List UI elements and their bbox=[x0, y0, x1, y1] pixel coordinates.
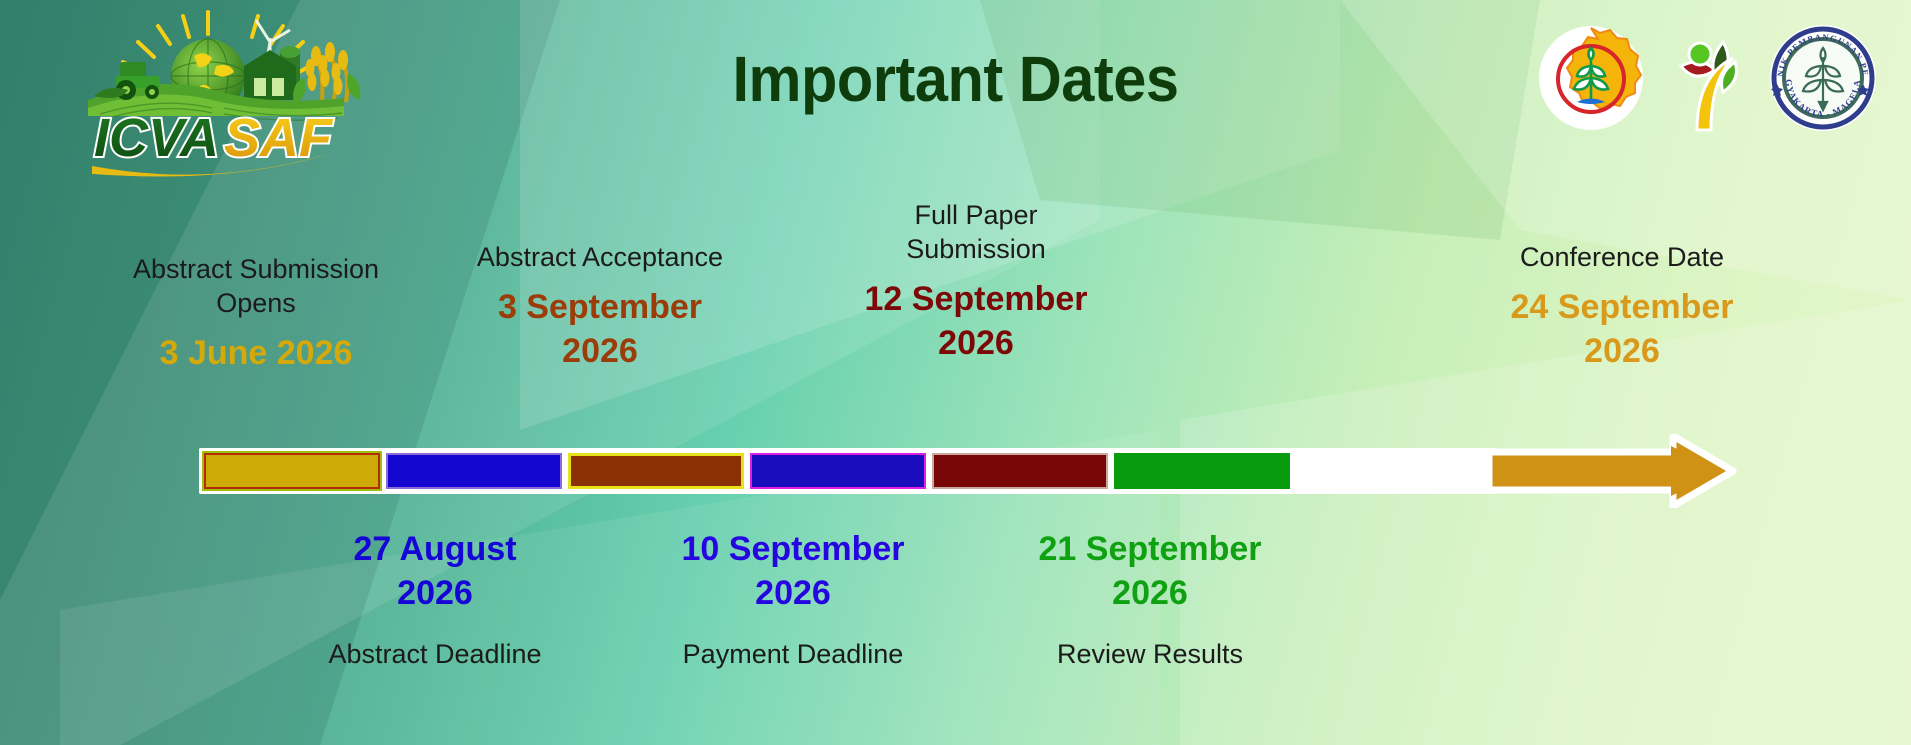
milestone-below-1: 27 August 2026 Abstract Deadline bbox=[290, 528, 580, 671]
milestone-date: 21 September 2026 bbox=[1005, 528, 1295, 615]
timeline-arrow bbox=[199, 448, 1737, 494]
milestone-above-1: Abstract Submission Opens 3 June 2026 bbox=[96, 252, 416, 376]
milestone-label: Full Paper Submission bbox=[826, 198, 1126, 266]
milestone-date: 24 September 2026 bbox=[1462, 286, 1782, 373]
milestone-date: 27 August 2026 bbox=[290, 528, 580, 615]
milestone-above-2: Abstract Acceptance 3 September 2026 bbox=[440, 240, 760, 373]
milestone-label: Abstract Submission Opens bbox=[96, 252, 416, 320]
timeline-segment-5[interactable] bbox=[932, 453, 1108, 489]
milestone-label: Conference Date bbox=[1462, 240, 1782, 274]
arrow-head-icon bbox=[1487, 434, 1737, 508]
important-dates-banner: ICVA SAF Important Dates bbox=[0, 0, 1911, 745]
timeline-segment-6[interactable] bbox=[1114, 453, 1290, 489]
milestone-label: Payment Deadline bbox=[648, 637, 938, 671]
milestone-label: Abstract Acceptance bbox=[440, 240, 760, 274]
milestone-date: 3 September 2026 bbox=[440, 286, 760, 373]
milestone-below-2: 10 September 2026 Payment Deadline bbox=[648, 528, 938, 671]
timeline-bar bbox=[204, 453, 1290, 489]
timeline-segment-2[interactable] bbox=[386, 453, 562, 489]
milestone-label: Abstract Deadline bbox=[290, 637, 580, 671]
milestone-date: 10 September 2026 bbox=[648, 528, 938, 615]
timeline-segment-1[interactable] bbox=[204, 453, 380, 489]
milestone-above-4: Conference Date 24 September 2026 bbox=[1462, 240, 1782, 373]
milestone-date: 12 September 2026 bbox=[826, 278, 1126, 365]
timeline-segment-4[interactable] bbox=[750, 453, 926, 489]
milestone-label: Review Results bbox=[1005, 637, 1295, 671]
timeline-segment-3[interactable] bbox=[568, 453, 744, 489]
milestone-above-3: Full Paper Submission 12 September 2026 bbox=[826, 198, 1126, 365]
milestone-date: 3 June 2026 bbox=[96, 332, 416, 376]
milestone-below-3: 21 September 2026 Review Results bbox=[1005, 528, 1295, 671]
timeline: Abstract Submission Opens 3 June 2026 Ab… bbox=[0, 0, 1911, 745]
